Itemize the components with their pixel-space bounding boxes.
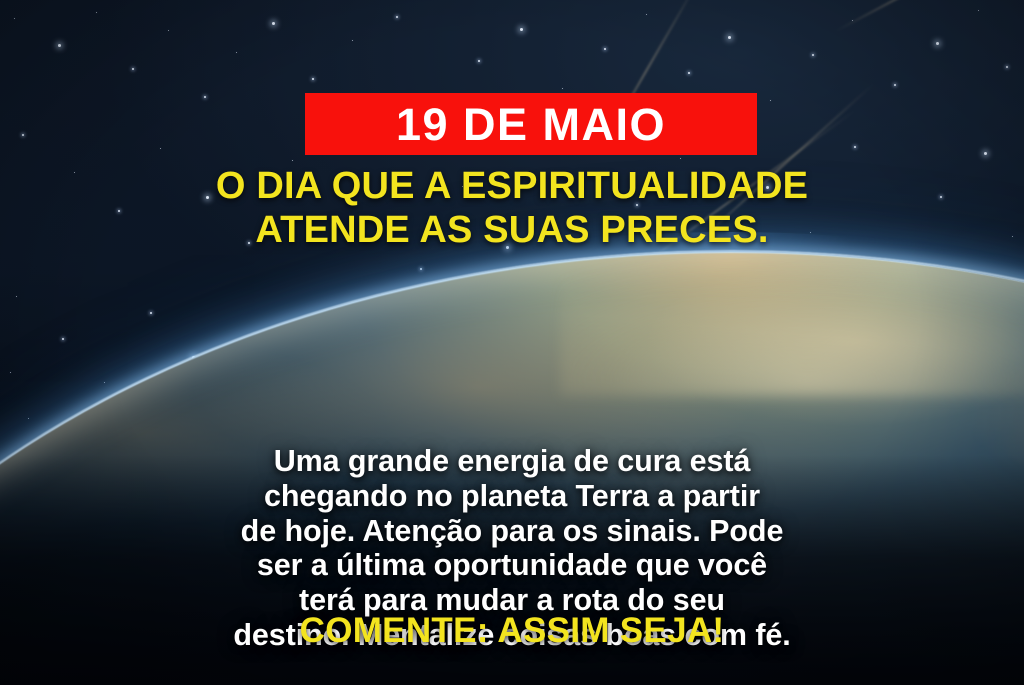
call-to-action-text: COMENTE: ASSIM SEJA!: [0, 613, 1024, 648]
date-banner-label: 19 DE MAIO: [396, 102, 666, 147]
date-banner: 19 DE MAIO: [305, 93, 757, 155]
poster-content: 19 DE MAIO O DIA QUE A ESPIRITUALIDADE A…: [0, 0, 1024, 685]
headline-text: O DIA QUE A ESPIRITUALIDADE ATENDE AS SU…: [0, 164, 1024, 253]
social-media-poster: 19 DE MAIO O DIA QUE A ESPIRITUALIDADE A…: [0, 0, 1024, 685]
